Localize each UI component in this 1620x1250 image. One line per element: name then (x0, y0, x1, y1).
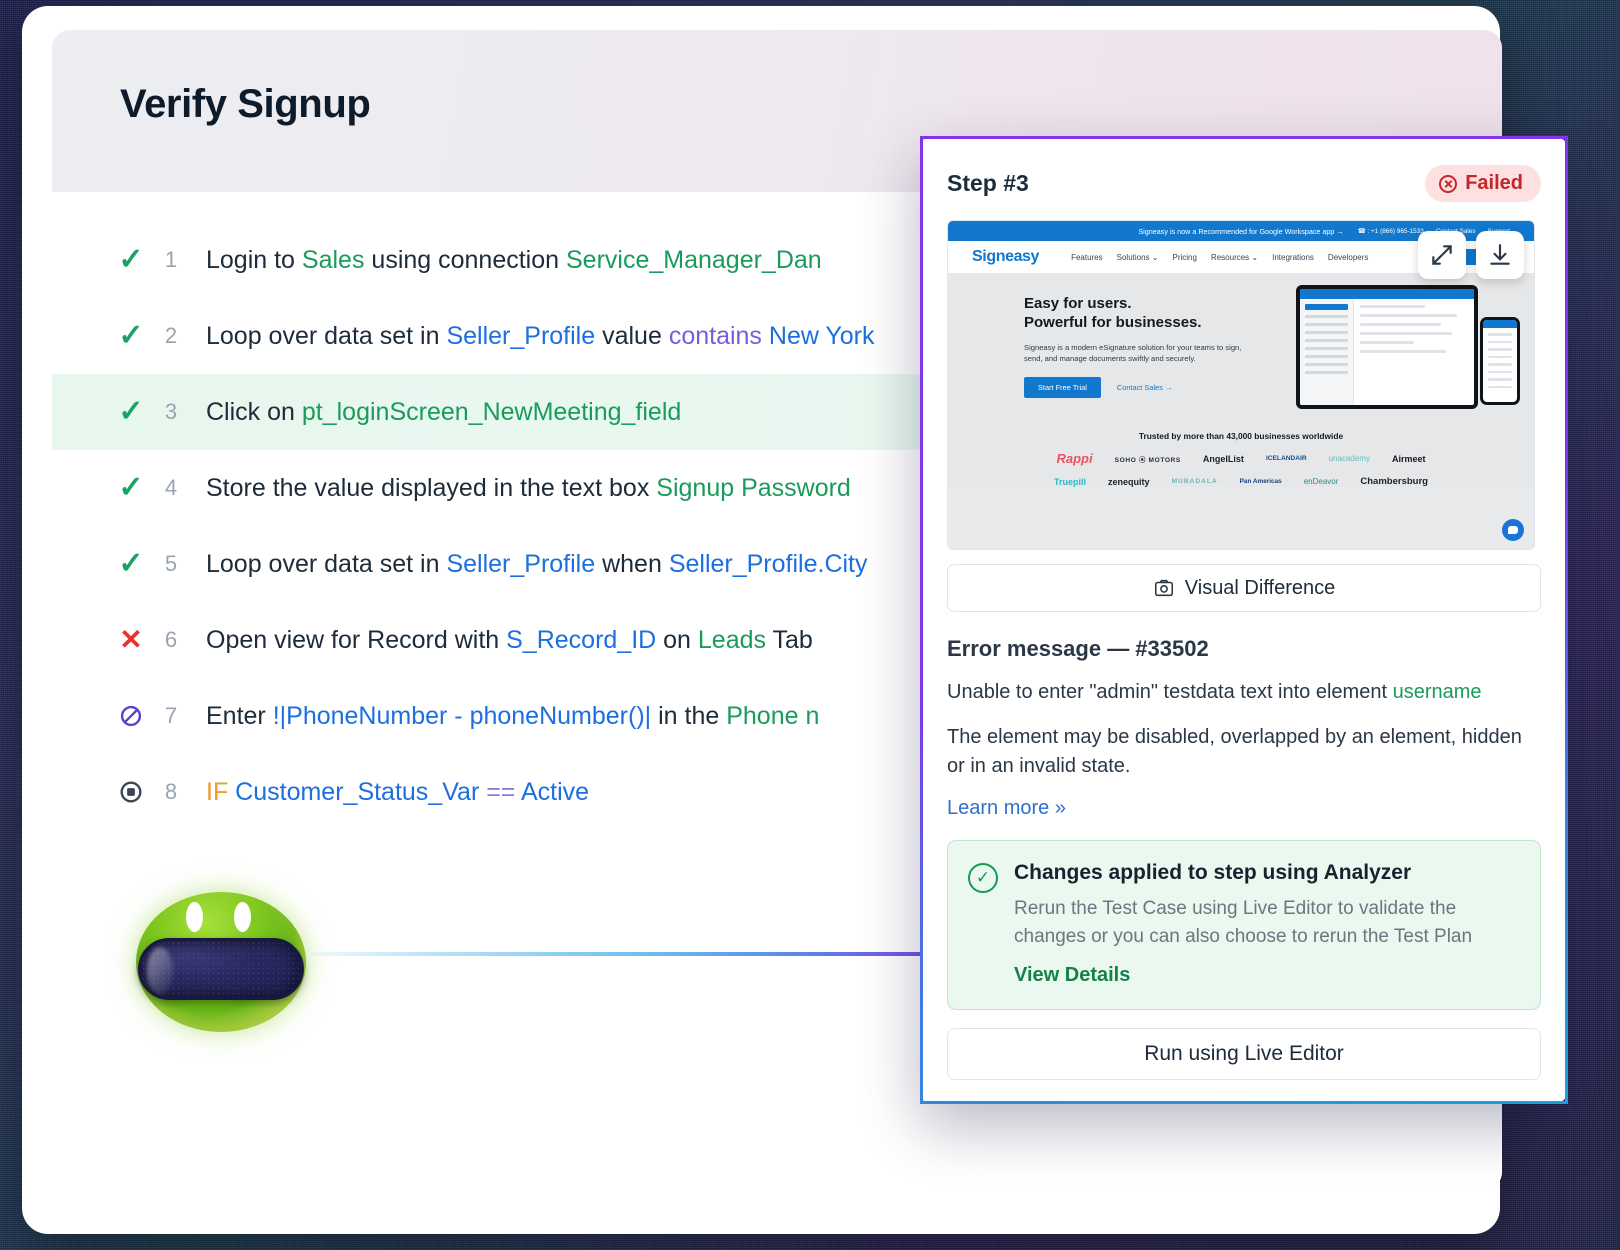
step-description: IF Customer_Status_Var == Active (194, 778, 589, 807)
page-title: Verify Signup (120, 82, 370, 127)
th-nav-items-item: Resources ⌄ (1211, 253, 1258, 262)
site-subtext: Signeasy is a modern eSignature solution… (1024, 342, 1244, 365)
step-token: IF (206, 778, 235, 806)
learn-more-link[interactable]: Learn more » (947, 797, 1066, 820)
error-message-text: Unable to enter "admin" testdata text in… (947, 681, 1393, 703)
step-number: 8 (148, 779, 194, 805)
th-nav-items-item: Integrations (1272, 253, 1314, 262)
th-nav-items-item: Solutions ⌄ (1117, 253, 1159, 262)
step-token: Signup Password (656, 474, 851, 502)
site-logo: Signeasy (972, 248, 1039, 266)
site-start-trial-button: Start Free Trial (1024, 377, 1101, 398)
site-hero: Easy for users. Powerful for businesses.… (948, 273, 1534, 423)
view-details-link[interactable]: View Details (1014, 964, 1130, 987)
th-logos-2-item: MUBADALA (1172, 478, 1218, 485)
step-description: Enter !|PhoneNumber - phoneNumber()| in … (194, 702, 819, 731)
visual-difference-button[interactable]: Visual Difference (947, 564, 1541, 612)
step-token: when (595, 550, 669, 578)
step-token: Seller_Profile.City (669, 550, 868, 578)
th-logos-2-item: Chambersburg (1360, 476, 1428, 487)
site-contact-sales-button: Contact Sales → (1117, 383, 1172, 392)
th-nav-items-item: Features (1071, 253, 1103, 262)
th-logos-1-item: Airmeet (1392, 454, 1426, 464)
download-icon (1487, 242, 1513, 268)
th-logos-1-item: unacademy (1329, 454, 1370, 463)
step-description: Click on pt_loginScreen_NewMeeting_field (194, 398, 681, 427)
step-number: 7 (148, 703, 194, 729)
step-token: !|PhoneNumber - phoneNumber()| (273, 702, 651, 730)
step-token: Service_Manager_Dan (566, 246, 822, 274)
status-passed-icon: ✓ (118, 245, 143, 275)
analyzer-callout: ✓ Changes applied to step using Analyzer… (947, 840, 1541, 1010)
step-number: 1 (148, 247, 194, 273)
visual-difference-label: Visual Difference (1185, 577, 1335, 600)
step-token: Open view for Record with (206, 626, 506, 654)
status-badge-label: Failed (1465, 172, 1523, 195)
step-token: Active (521, 778, 589, 806)
step-token: Leads (698, 626, 766, 654)
step-number: 3 (148, 399, 194, 425)
status-skipped-icon (118, 703, 144, 729)
th-nav-items-item: Pricing (1172, 253, 1196, 262)
step-number: 2 (148, 323, 194, 349)
th-logos-1-item: AngelList (1203, 454, 1244, 464)
expand-button[interactable] (1418, 231, 1466, 279)
step-token: Loop over data set in (206, 550, 446, 578)
step-token: == (479, 778, 521, 806)
step-token: value (595, 322, 669, 350)
screenshot-actions (1418, 231, 1524, 279)
step-token: Tab (766, 626, 813, 654)
step-number: 6 (148, 627, 194, 653)
error-message-line-1: Unable to enter "admin" testdata text in… (947, 678, 1541, 707)
step-status (114, 779, 148, 805)
bot-avatar (130, 886, 312, 1038)
failed-circle-x-icon (1439, 175, 1457, 193)
camera-icon (1153, 577, 1175, 599)
step-description: Login to Sales using connection Service_… (194, 246, 822, 275)
step-description: Loop over data set in Seller_Profile val… (194, 322, 875, 351)
step-token: Store the value displayed in the text bo… (206, 474, 656, 502)
step-token: Loop over data set in (206, 322, 446, 350)
error-heading: Error message — #33502 (947, 636, 1541, 662)
th-logos-2-item: Truepill (1054, 477, 1086, 487)
step-description: Open view for Record with S_Record_ID on… (194, 626, 813, 655)
step-description: Loop over data set in Seller_Profile whe… (194, 550, 868, 579)
step-token: in the (651, 702, 726, 730)
step-token: Seller_Profile (446, 550, 595, 578)
error-element-name: username (1393, 681, 1482, 703)
step-token: Seller_Profile (446, 322, 595, 350)
site-laptop-mockup-icon (1296, 285, 1478, 409)
site-phone-mockup-icon (1480, 317, 1520, 405)
site-phone: ☎ : +1 (866) 965-1533 (1358, 227, 1424, 235)
step-status: ✓ (114, 549, 148, 579)
th-nav-items-item: Developers (1328, 253, 1368, 262)
step-detail-header: Step #3 Failed (947, 165, 1541, 202)
step-token: Customer_Status_Var (235, 778, 479, 806)
check-circle-icon: ✓ (968, 863, 998, 893)
step-token: pt_loginScreen_NewMeeting_field (302, 398, 681, 426)
step-status: ✓ (114, 473, 148, 503)
error-message-line-2: The element may be disabled, overlapped … (947, 723, 1541, 781)
status-badge: Failed (1425, 165, 1541, 202)
status-failed-icon: ✕ (119, 626, 142, 654)
step-status: ✓ (114, 397, 148, 427)
step-number: 5 (148, 551, 194, 577)
chat-widget-icon[interactable] (1502, 519, 1524, 541)
bot-eye-left-icon (186, 902, 203, 932)
th-logos-2-item: zenequity (1108, 477, 1150, 487)
step-token: Enter (206, 702, 273, 730)
site-trust-title: Trusted by more than 43,000 businesses w… (948, 431, 1534, 441)
analyzer-description: Rerun the Test Case using Live Editor to… (1014, 895, 1518, 950)
site-promo-text: Signeasy is now a Recommended for Google… (1138, 227, 1343, 236)
step-status: ✓ (114, 321, 148, 351)
site-logo-row-2: TruepillzenequityMUBADALAPan AmericasenD… (948, 476, 1534, 487)
status-passed-icon: ✓ (118, 549, 143, 579)
step-status: ✓ (114, 245, 148, 275)
bot-visor-icon (138, 938, 304, 1000)
step-token: Login to (206, 246, 302, 274)
th-logos-2-item: enDeavor (1304, 477, 1339, 486)
step-status (114, 703, 148, 729)
bot-eye-right-icon (234, 902, 251, 932)
status-passed-icon: ✓ (118, 321, 143, 351)
step-status: ✕ (114, 626, 148, 654)
expand-icon (1429, 242, 1455, 268)
run-live-editor-button[interactable]: Run using Live Editor (947, 1028, 1541, 1080)
download-button[interactable] (1476, 231, 1524, 279)
th-logos-1-item: Rappi (1057, 451, 1093, 466)
step-token: Click on (206, 398, 302, 426)
step-token: Sales (302, 246, 365, 274)
step-screenshot[interactable]: Signeasy is now a Recommended for Google… (947, 220, 1535, 550)
th-logos-2-item: Pan Americas (1240, 478, 1282, 485)
connector-line (310, 952, 942, 956)
step-detail-title: Step #3 (947, 170, 1029, 197)
step-token: using connection (364, 246, 566, 274)
step-token: S_Record_ID (506, 626, 656, 654)
site-trust-section: Trusted by more than 43,000 businesses w… (948, 423, 1534, 487)
status-passed-icon: ✓ (118, 397, 143, 427)
th-logos-1-item: SOHO ⦿ MOTORS (1115, 454, 1181, 464)
site-logo-row-1: RappiSOHO ⦿ MOTORSAngelListICELANDAIRuna… (948, 451, 1534, 466)
site-nav-items: FeaturesSolutions ⌄PricingResources ⌄Int… (1071, 253, 1368, 262)
step-description: Store the value displayed in the text bo… (194, 474, 851, 503)
step-token: Phone n (726, 702, 819, 730)
step-number: 4 (148, 475, 194, 501)
analyzer-title: Changes applied to step using Analyzer (1014, 861, 1518, 885)
status-stopped-icon (118, 779, 144, 805)
step-detail-panel: Step #3 Failed Signeasy is now a Recomme… (920, 136, 1568, 1104)
step-token: New York (762, 322, 875, 350)
step-token: contains (669, 322, 762, 350)
th-logos-1-item: ICELANDAIR (1266, 455, 1307, 462)
status-passed-icon: ✓ (118, 473, 143, 503)
step-token: on (656, 626, 698, 654)
